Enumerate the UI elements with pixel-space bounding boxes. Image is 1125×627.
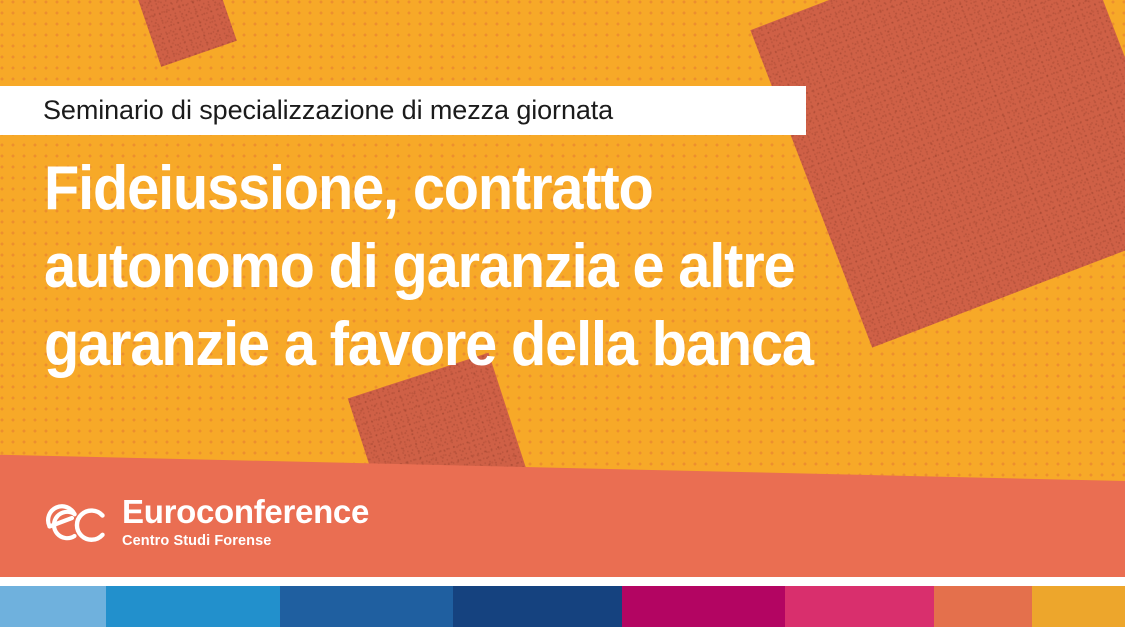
- ec-monogram-icon: [44, 496, 110, 548]
- color-bar-segment-amber: [1032, 586, 1125, 627]
- color-bar-segment-navy: [453, 586, 622, 627]
- promotional-banner: Seminario di specializzazione di mezza g…: [0, 0, 1125, 627]
- logo-name: Euroconference: [122, 495, 369, 529]
- color-bar: [0, 586, 1125, 627]
- euroconference-logo: Euroconference Centro Studi Forense: [44, 495, 369, 550]
- color-bar-segment-blue: [106, 586, 280, 627]
- logo-text-block: Euroconference Centro Studi Forense: [122, 495, 369, 550]
- subtitle-text: Seminario di specializzazione di mezza g…: [43, 95, 613, 126]
- white-divider-strip: [0, 577, 1125, 586]
- color-bar-segment-light-blue: [0, 586, 106, 627]
- color-bar-segment-coral: [934, 586, 1032, 627]
- color-bar-segment-pink: [785, 586, 934, 627]
- color-bar-segment-magenta: [622, 586, 785, 627]
- title-line-2: autonomo di garanzia e altre: [44, 228, 983, 306]
- subtitle-banner: Seminario di specializzazione di mezza g…: [0, 86, 806, 135]
- logo-tagline: Centro Studi Forense: [122, 532, 369, 550]
- title-block: Fideiussione, contratto autonomo di gara…: [44, 150, 1054, 384]
- title-line-1: Fideiussione, contratto: [44, 150, 983, 228]
- color-bar-segment-steel-blue: [280, 586, 453, 627]
- title-line-3: garanzie a favore della banca: [44, 306, 983, 384]
